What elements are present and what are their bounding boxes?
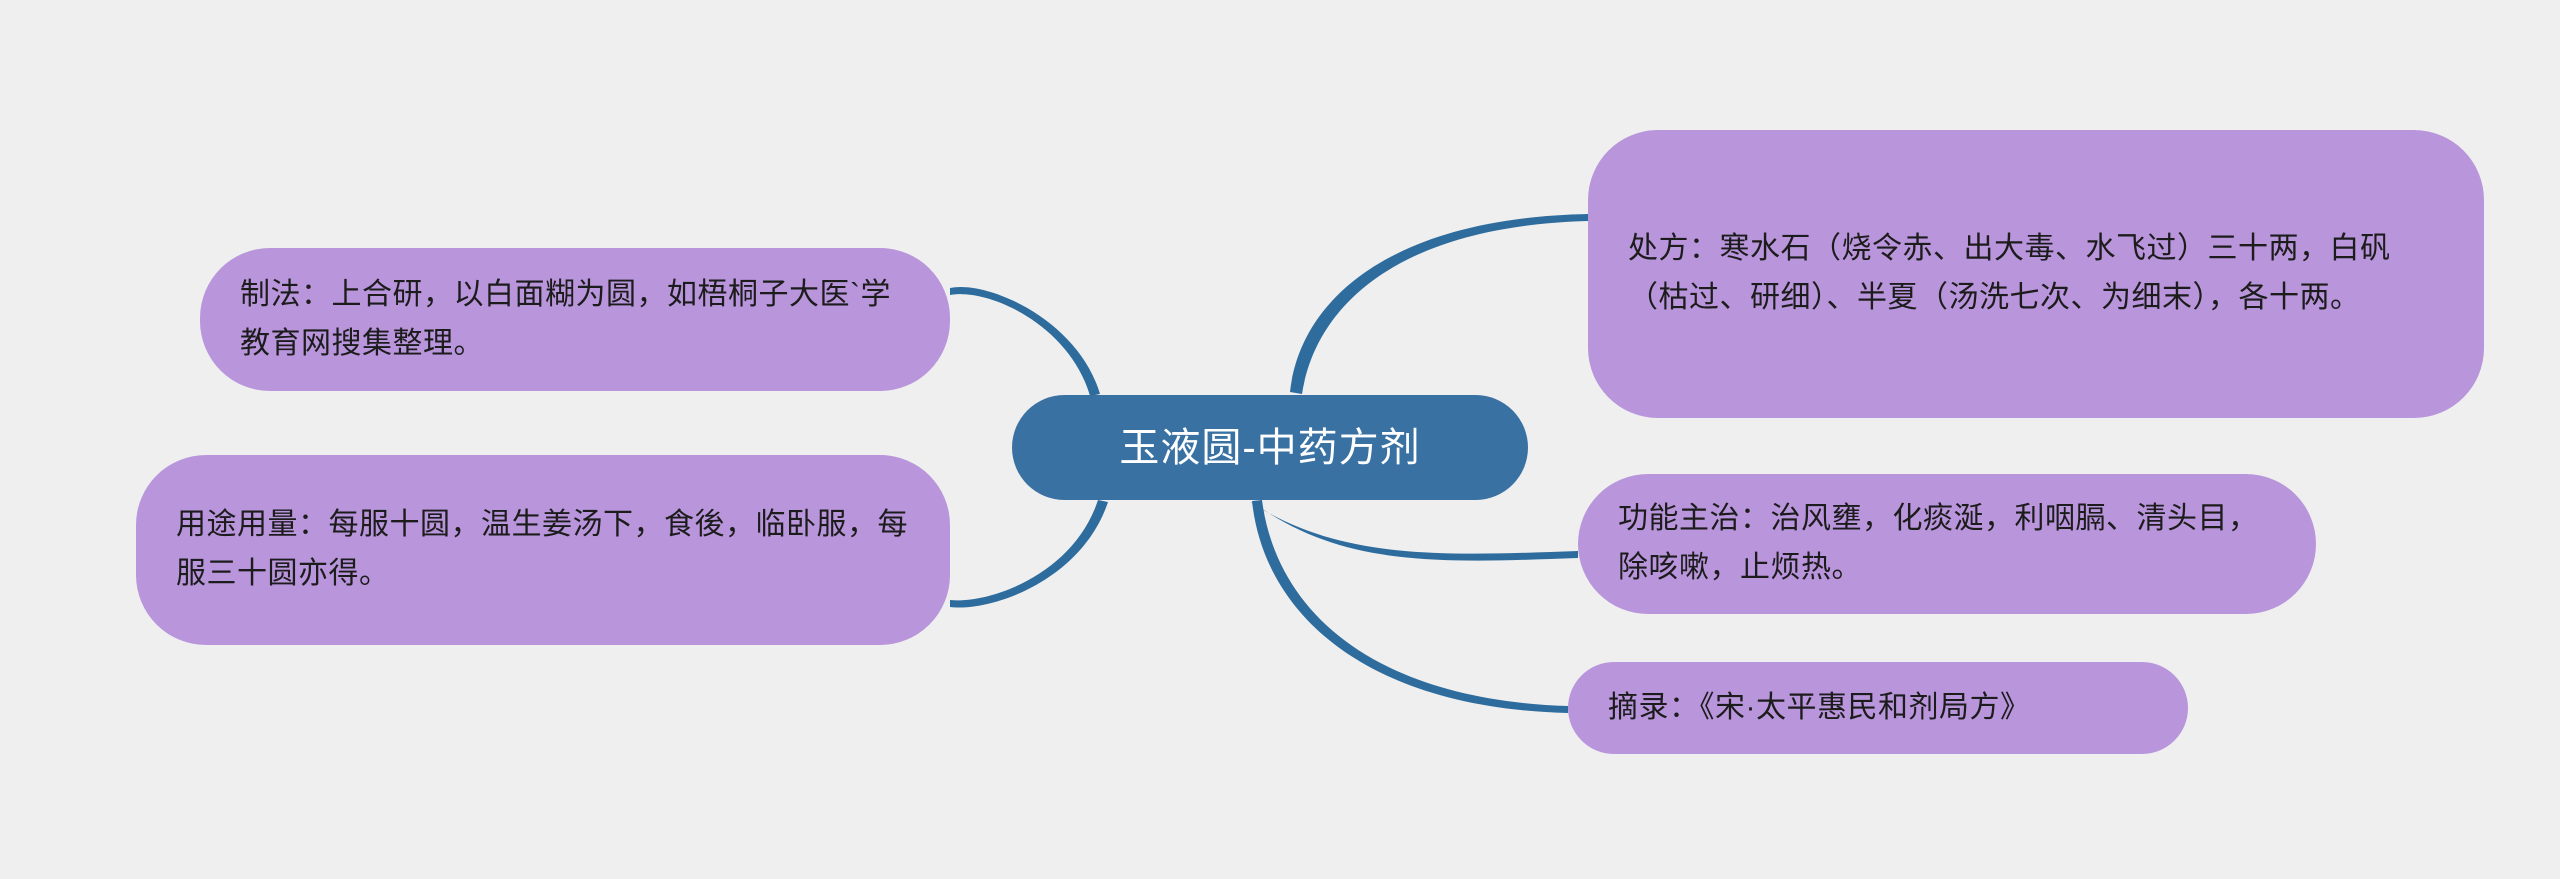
- branch-node-method[interactable]: 制法：上合研，以白面糊为圆，如梧桐子大医`学教育网搜集整理。: [200, 248, 950, 391]
- branch-label-prescription: 处方：寒水石（烧令赤、出大毒、水飞过）三十两，白矾（枯过、研细）、半夏（汤洗七次…: [1628, 225, 2450, 322]
- branch-node-source[interactable]: 摘录：《宋·太平惠民和剂局方》: [1568, 662, 2188, 754]
- mindmap-canvas: 玉液圆-中药方剂 制法：上合研，以白面糊为圆，如梧桐子大医`学教育网搜集整理。 …: [0, 0, 2560, 879]
- branch-node-indications[interactable]: 功能主治：治风壅，化痰涎，利咽膈、清头目，除咳嗽，止烦热。: [1578, 474, 2316, 614]
- branch-label-indications: 功能主治：治风壅，化痰涎，利咽膈、清头目，除咳嗽，止烦热。: [1618, 495, 2282, 592]
- branch-node-dosage[interactable]: 用途用量：每服十圆，温生姜汤下，食後，临卧服，每服三十圆亦得。: [136, 455, 950, 645]
- edge-center-to-method: [950, 287, 1100, 396]
- edge-center-to-dosage: [950, 500, 1108, 608]
- branch-node-prescription[interactable]: 处方：寒水石（烧令赤、出大毒、水飞过）三十两，白矾（枯过、研细）、半夏（汤洗七次…: [1588, 130, 2484, 418]
- edge-center-to-source: [1252, 500, 1568, 713]
- branch-label-method: 制法：上合研，以白面糊为圆，如梧桐子大医`学教育网搜集整理。: [240, 271, 916, 368]
- edge-center-to-indications: [1250, 502, 1578, 561]
- center-node[interactable]: 玉液圆-中药方剂: [1012, 395, 1528, 500]
- edge-center-to-prescription: [1290, 214, 1588, 394]
- branch-label-dosage: 用途用量：每服十圆，温生姜汤下，食後，临卧服，每服三十圆亦得。: [176, 501, 916, 598]
- center-node-label: 玉液圆-中药方剂: [1119, 424, 1420, 472]
- branch-label-source: 摘录：《宋·太平惠民和剂局方》: [1608, 684, 2154, 733]
